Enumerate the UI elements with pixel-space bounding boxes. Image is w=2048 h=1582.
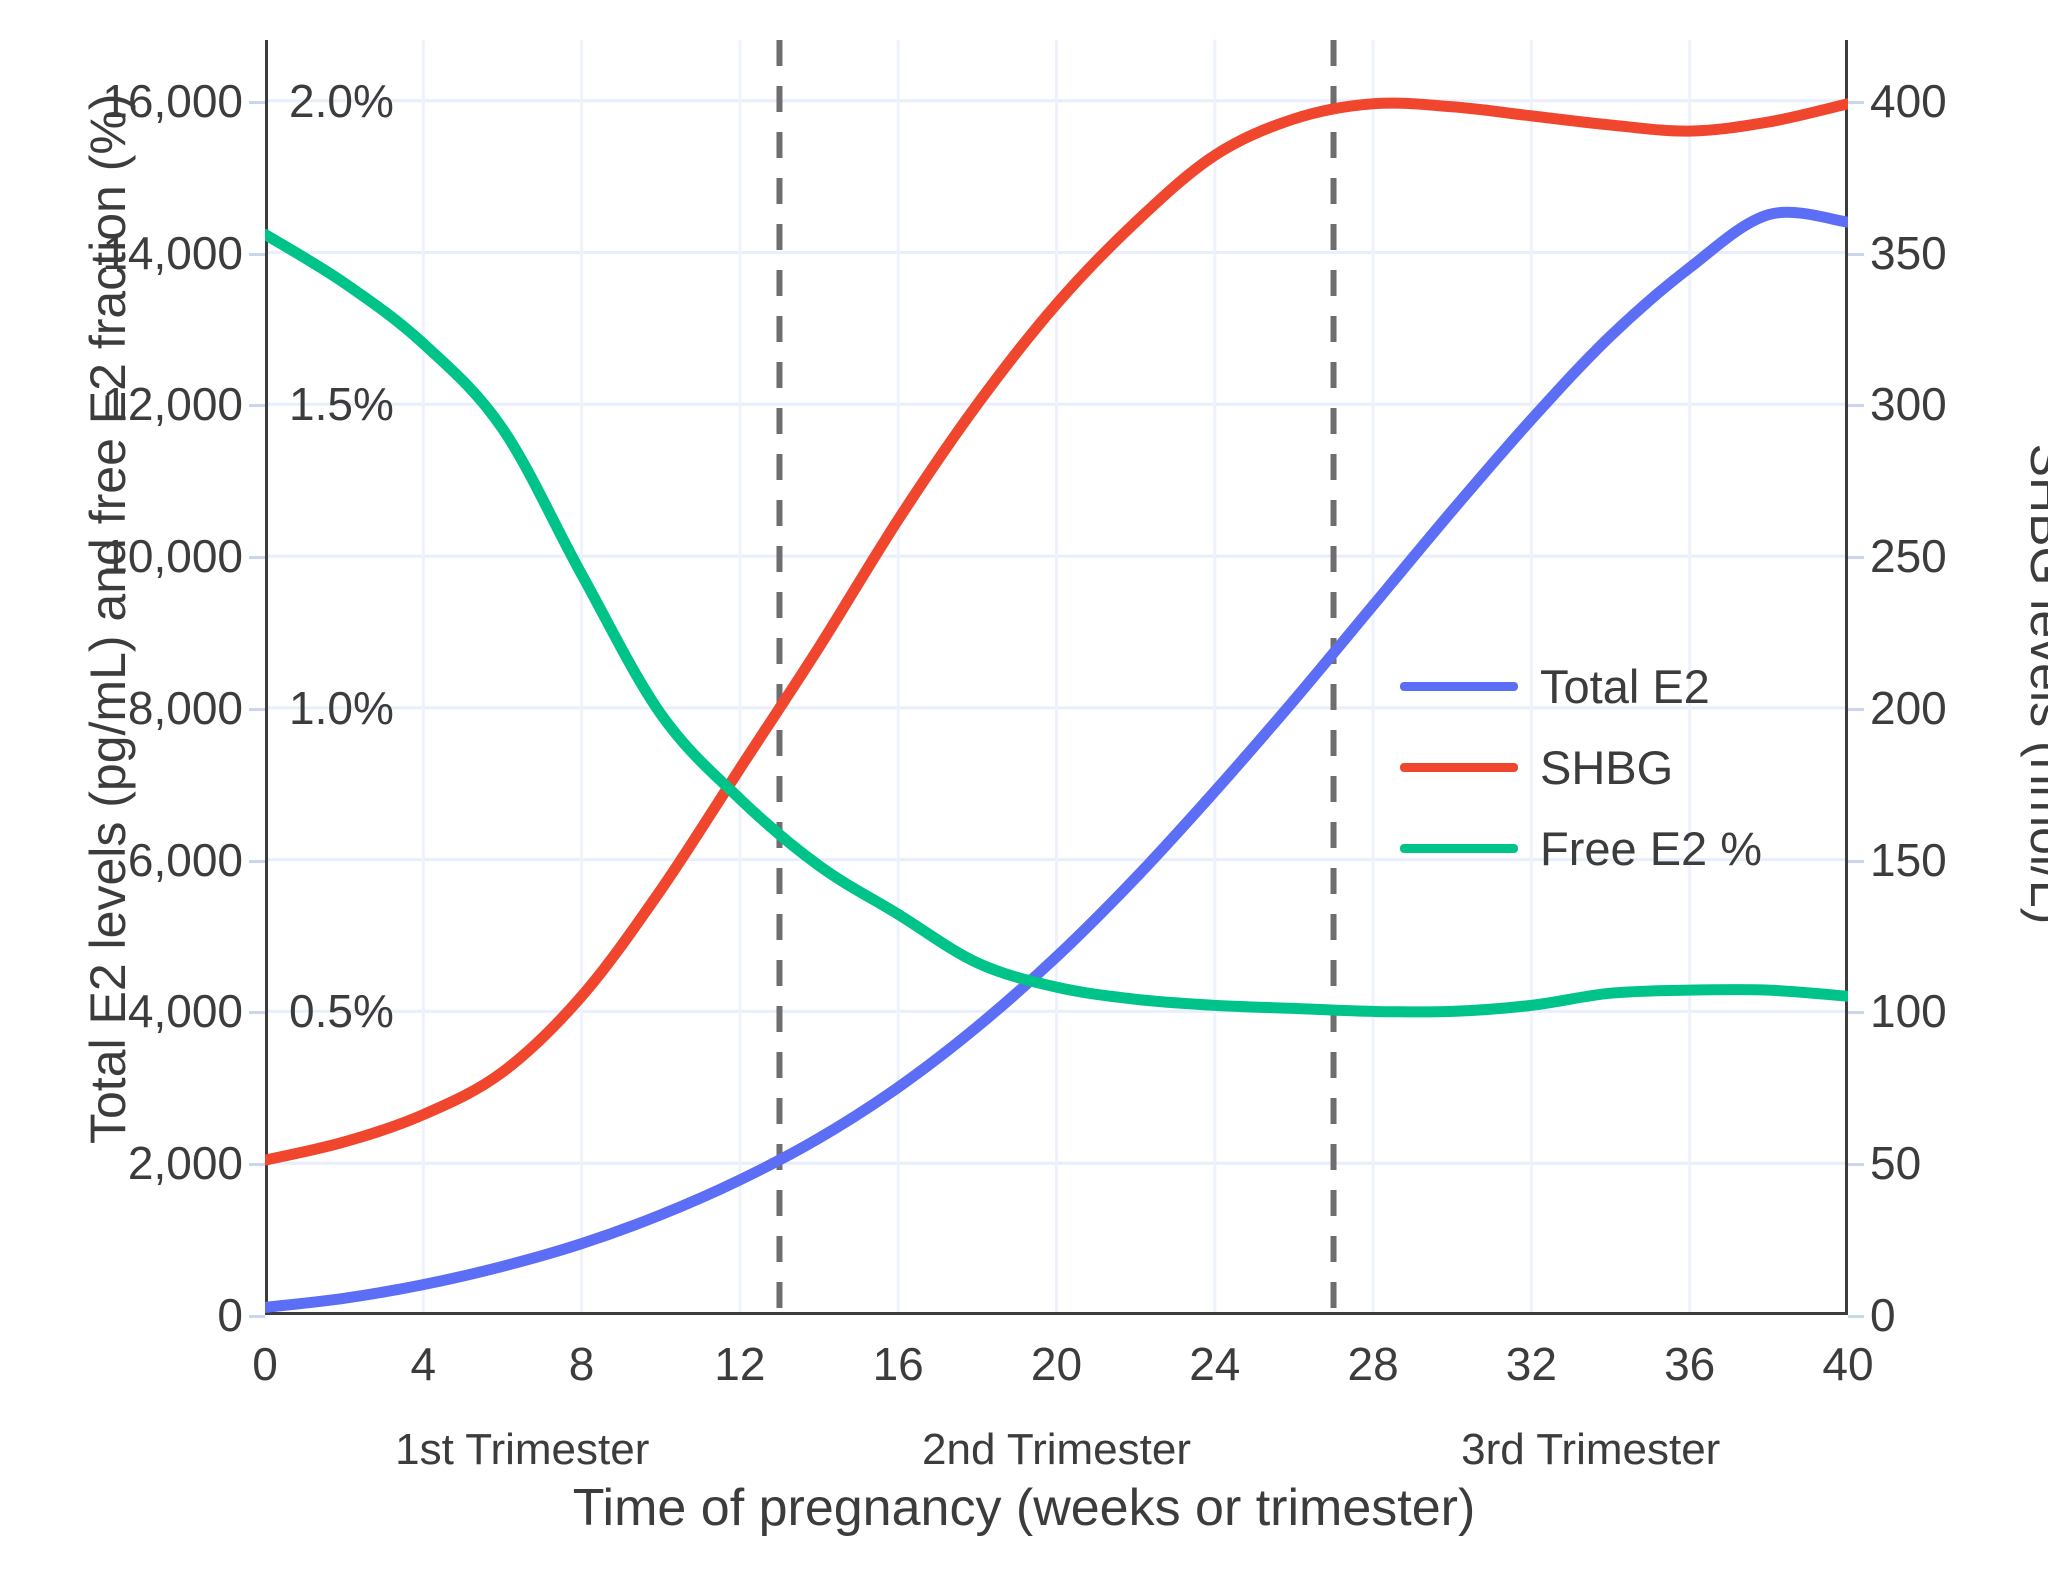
trimester-band-label: 3rd Trimester: [1461, 1425, 1720, 1475]
y-axis-left-tick-mark: [249, 1011, 265, 1014]
y-axis-left-tick-label: 0: [217, 1288, 243, 1342]
legend-item[interactable]: Free E2 %: [1400, 817, 1780, 879]
y-axis-right-tick-label: 350: [1870, 226, 1947, 280]
y-axis-left-tick-mark: [249, 1315, 265, 1318]
x-axis-tick-label: 40: [1822, 1337, 1873, 1391]
x-axis-title: Time of pregnancy (weeks or trimester): [0, 1478, 2048, 1538]
percent-axis-label: 2.0%: [289, 74, 394, 128]
legend-color-swatch: [1400, 682, 1518, 691]
trimester-band-label: 1st Trimester: [395, 1425, 649, 1475]
y-axis-left-tick-label: 8,000: [128, 681, 243, 735]
y-axis-right-tick-mark: [1848, 860, 1864, 863]
y-axis-right-tick-mark: [1848, 101, 1864, 104]
y-axis-right-tick-label: 200: [1870, 681, 1947, 735]
y-axis-right-tick-mark: [1848, 1163, 1864, 1166]
legend-color-swatch: [1400, 844, 1518, 853]
y-axis-right-tick-mark: [1848, 404, 1864, 407]
y-axis-left-tick-label: 4,000: [128, 984, 243, 1038]
legend-color-swatch: [1400, 763, 1518, 772]
y-axis-right-tick-mark: [1848, 1315, 1864, 1318]
x-axis-tick-label: 12: [714, 1337, 765, 1391]
y-axis-left-tick-mark: [249, 404, 265, 407]
percent-axis-label: 0.5%: [289, 984, 394, 1038]
y-axis-right-title: SHBG levels (nmol/L): [2019, 224, 2048, 1144]
x-axis-tick-label: 28: [1348, 1337, 1399, 1391]
y-axis-right-tick-label: 100: [1870, 984, 1947, 1038]
y-axis-left-tick-label: 16,000: [102, 74, 243, 128]
x-axis-tick-label: 0: [252, 1337, 278, 1391]
y-axis-right-tick-mark: [1848, 253, 1864, 256]
y-axis-right-tick-label: 250: [1870, 529, 1947, 583]
y-axis-left-tick-mark: [249, 1163, 265, 1166]
x-axis-tick-label: 32: [1506, 1337, 1557, 1391]
percent-axis-label: 1.0%: [289, 681, 394, 735]
chart-legend: Total E2SHBGFree E2 %: [1400, 655, 1780, 898]
x-axis-tick-label: 20: [1031, 1337, 1082, 1391]
chart-root: Total E2 levels (pg/mL) and free E2 frac…: [0, 0, 2048, 1582]
percent-axis-label: 1.5%: [289, 377, 394, 431]
y-axis-right-tick-label: 150: [1870, 833, 1947, 887]
legend-item-label: Total E2: [1540, 659, 1710, 714]
y-axis-right-tick-label: 50: [1870, 1136, 1921, 1190]
y-axis-left-tick-label: 2,000: [128, 1136, 243, 1190]
y-axis-right-tick-label: 400: [1870, 74, 1947, 128]
y-axis-right-tick-mark: [1848, 556, 1864, 559]
x-axis-tick-label: 8: [569, 1337, 595, 1391]
y-axis-left-tick-mark: [249, 101, 265, 104]
trimester-band-label: 2nd Trimester: [922, 1425, 1191, 1475]
y-axis-right-tick-label: 0: [1870, 1288, 1896, 1342]
y-axis-left-tick-mark: [249, 860, 265, 863]
legend-item-label: Free E2 %: [1540, 821, 1762, 876]
x-axis-tick-label: 4: [411, 1337, 437, 1391]
y-axis-left-tick-mark: [249, 556, 265, 559]
y-axis-right-tick-label: 300: [1870, 377, 1947, 431]
y-axis-left-tick-label: 12,000: [102, 377, 243, 431]
x-axis-tick-label: 24: [1189, 1337, 1240, 1391]
y-axis-left-tick-label: 6,000: [128, 833, 243, 887]
legend-item[interactable]: Total E2: [1400, 655, 1780, 717]
y-axis-right-tick-mark: [1848, 1011, 1864, 1014]
x-axis-tick-label: 16: [873, 1337, 924, 1391]
y-axis-left-tick-mark: [249, 253, 265, 256]
y-axis-left-tick-mark: [249, 708, 265, 711]
legend-item-label: SHBG: [1540, 740, 1673, 795]
y-axis-right-tick-mark: [1848, 708, 1864, 711]
x-axis-tick-label: 36: [1664, 1337, 1715, 1391]
y-axis-left-tick-label: 10,000: [102, 529, 243, 583]
legend-item[interactable]: SHBG: [1400, 736, 1780, 798]
y-axis-left-tick-label: 14,000: [102, 226, 243, 280]
